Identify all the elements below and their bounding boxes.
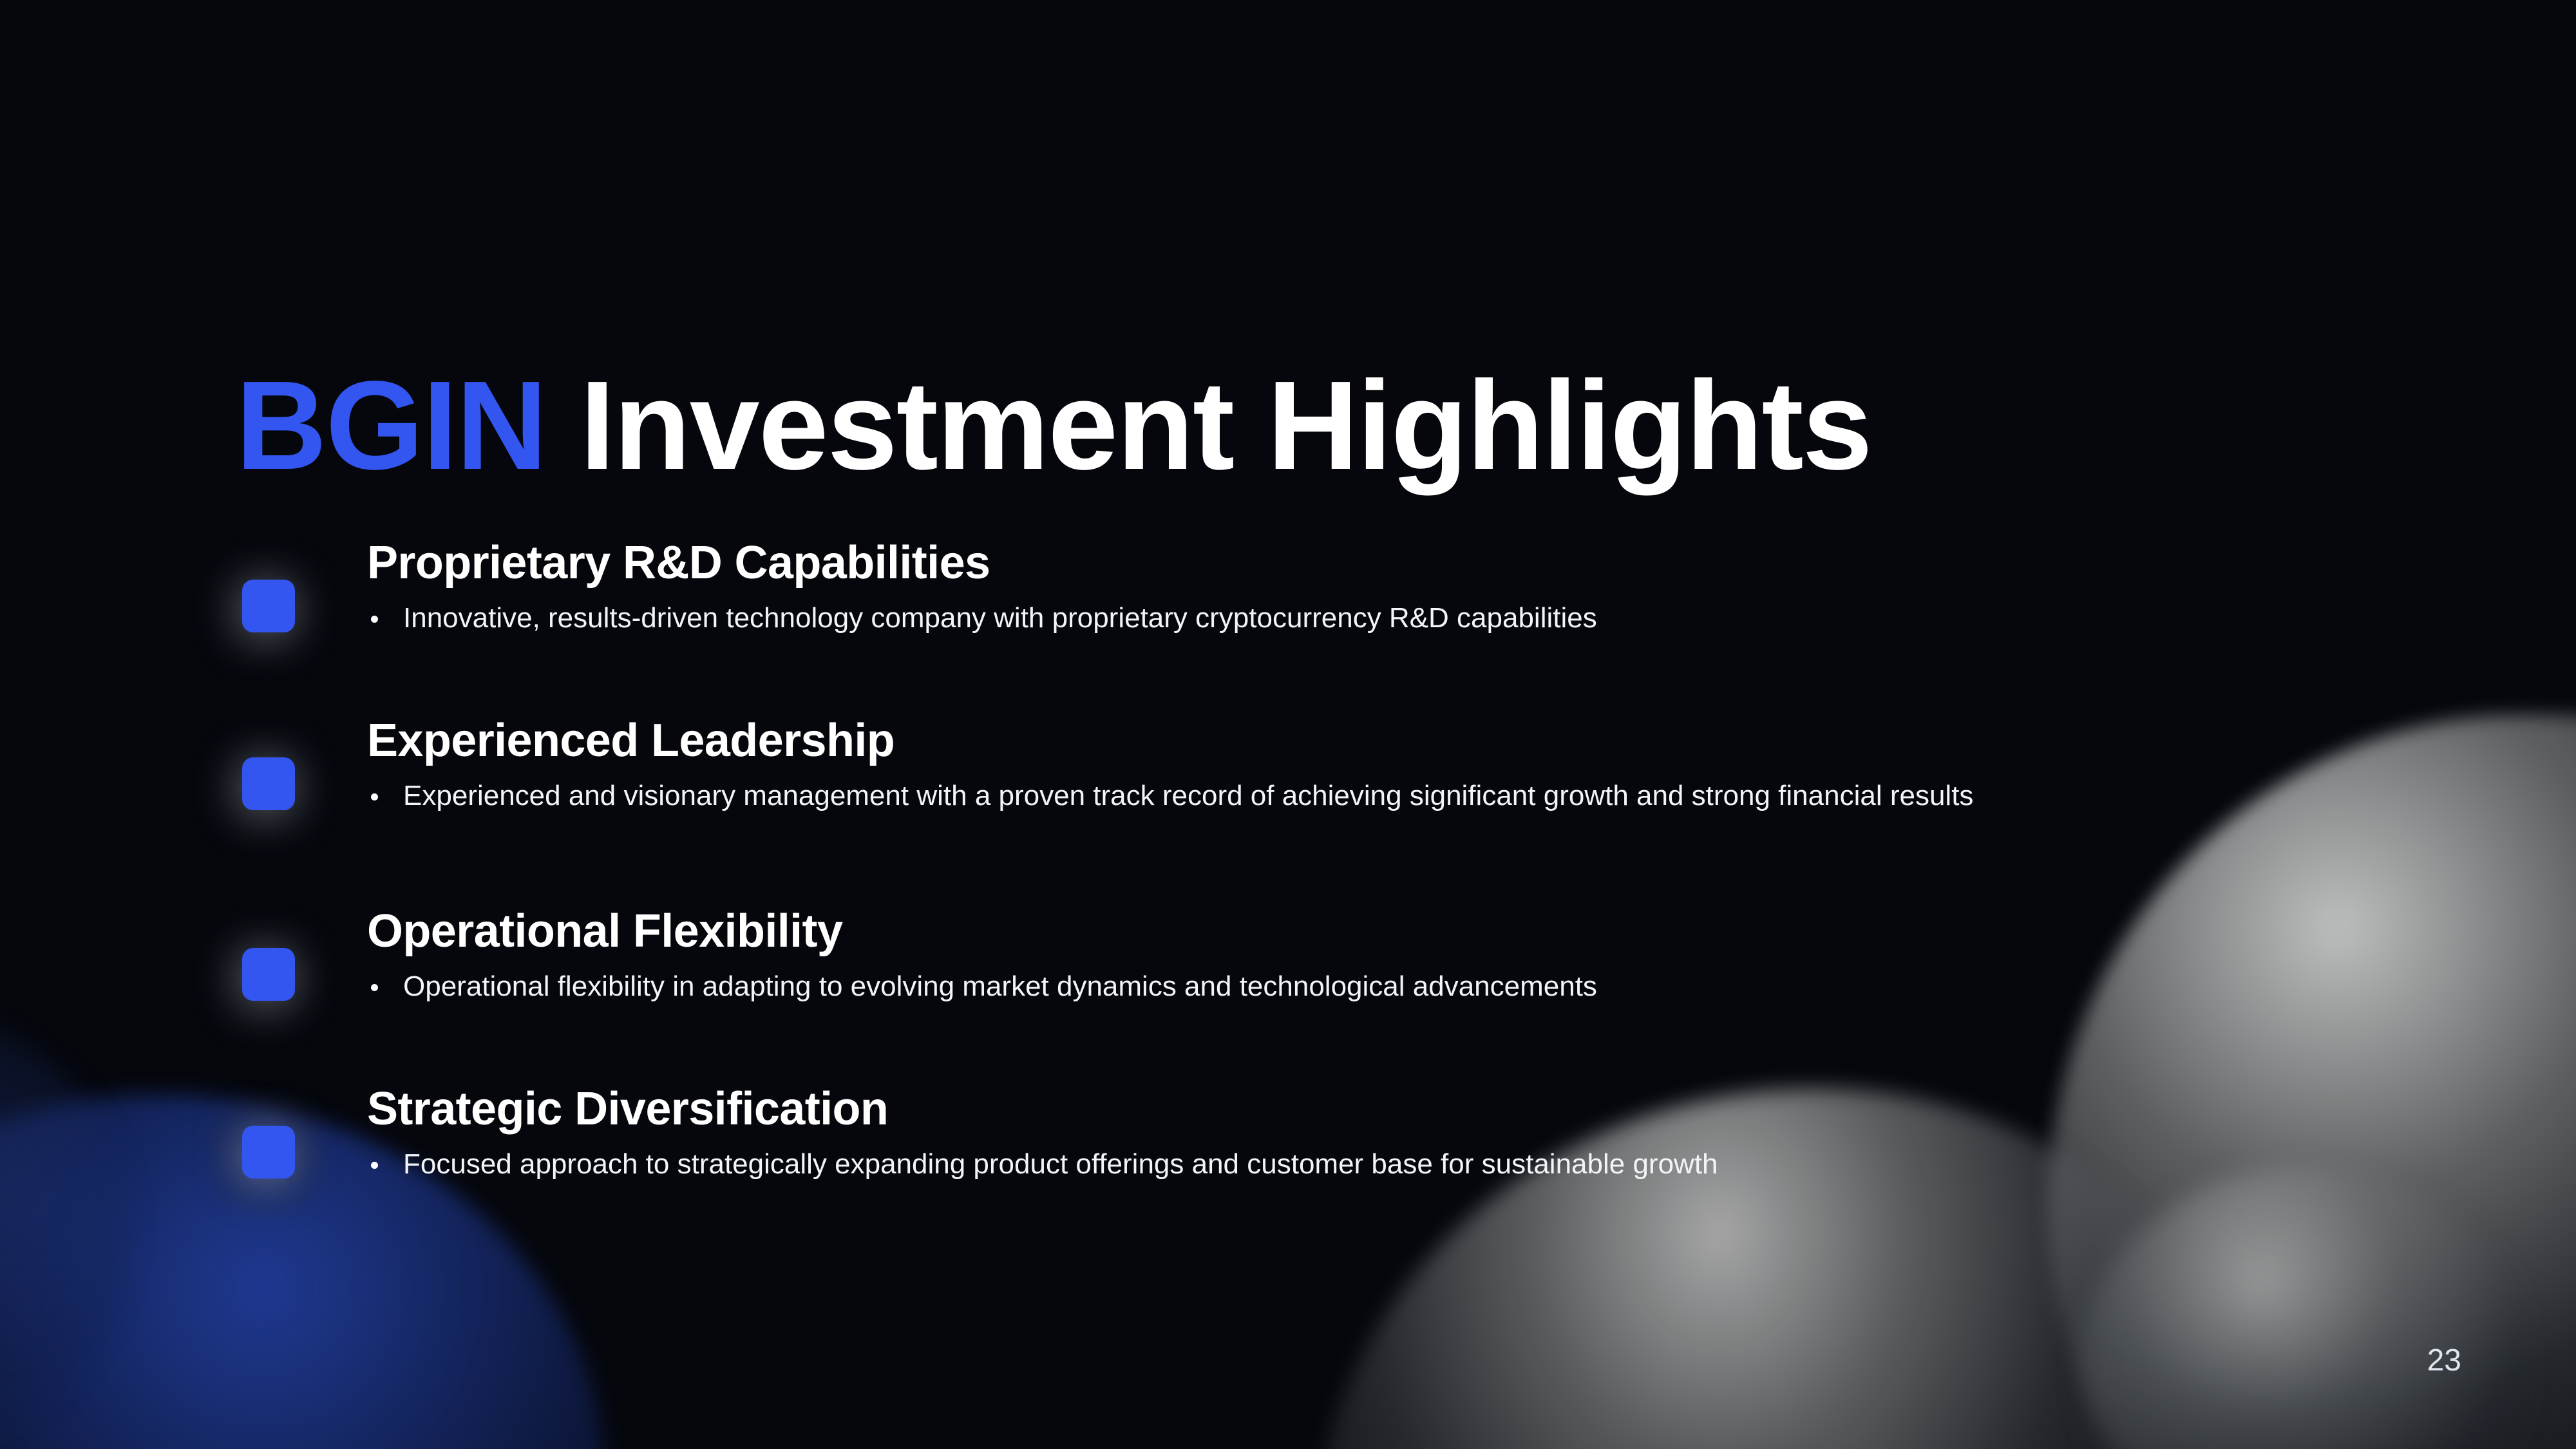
highlight-heading: Proprietary R&D Capabilities	[367, 520, 2394, 589]
highlight-heading: Operational Flexibility	[367, 889, 2394, 957]
highlight-item: Proprietary R&D Capabilities Innovative,…	[205, 520, 2394, 698]
highlight-bullet-list: Focused approach to strategically expand…	[367, 1135, 2394, 1184]
highlights-list: Proprietary R&D Capabilities Innovative,…	[205, 520, 2394, 1244]
page-number: 23	[2427, 1343, 2461, 1378]
icon-square-shape	[242, 948, 295, 1001]
bullet-dot-icon	[371, 793, 378, 800]
list-item: Focused approach to strategically expand…	[367, 1145, 2103, 1184]
icon-square-shape	[242, 757, 295, 810]
highlight-bullet-list: Experienced and visionary management wit…	[367, 766, 2394, 816]
bullet-text: Experienced and visionary management wit…	[403, 780, 1973, 811]
bullet-text: Focused approach to strategically expand…	[403, 1148, 1718, 1180]
blue-rounded-square-icon	[205, 549, 327, 671]
highlight-text-block: Strategic Diversification Focused approa…	[367, 1066, 2394, 1184]
list-item: Experienced and visionary management wit…	[367, 777, 2103, 816]
blue-rounded-square-icon	[205, 917, 327, 1039]
highlight-text-block: Operational Flexibility Operational flex…	[367, 889, 2394, 1006]
bullet-dot-icon	[371, 984, 378, 991]
highlight-bullet-list: Operational flexibility in adapting to e…	[367, 957, 2394, 1007]
highlight-text-block: Experienced Leadership Experienced and v…	[367, 698, 2394, 815]
icon-square-shape	[242, 580, 295, 632]
highlight-bullet-list: Innovative, results-driven technology co…	[367, 589, 2394, 638]
list-item: Operational flexibility in adapting to e…	[367, 967, 2103, 1007]
blue-rounded-square-icon	[205, 1095, 327, 1217]
bullet-dot-icon	[371, 1162, 378, 1169]
page-title: BGIN Investment Highlights	[236, 363, 1871, 489]
highlight-item: Experienced Leadership Experienced and v…	[205, 698, 2394, 889]
presentation-slide: BGIN Investment Highlights Proprietary R…	[0, 0, 2576, 1449]
brand-name: BGIN	[236, 355, 546, 496]
slide-content: BGIN Investment Highlights Proprietary R…	[0, 0, 2576, 1449]
list-item: Innovative, results-driven technology co…	[367, 599, 2103, 638]
bullet-text: Innovative, results-driven technology co…	[403, 602, 1597, 634]
bullet-dot-icon	[371, 616, 378, 623]
highlight-text-block: Proprietary R&D Capabilities Innovative,…	[367, 520, 2394, 638]
bullet-text: Operational flexibility in adapting to e…	[403, 971, 1597, 1002]
highlight-item: Strategic Diversification Focused approa…	[205, 1066, 2394, 1244]
icon-square-shape	[242, 1126, 295, 1179]
page-title-rest: Investment Highlights	[546, 355, 1871, 496]
highlight-heading: Strategic Diversification	[367, 1066, 2394, 1135]
highlight-heading: Experienced Leadership	[367, 698, 2394, 766]
blue-rounded-square-icon	[205, 726, 327, 849]
highlight-item: Operational Flexibility Operational flex…	[205, 889, 2394, 1066]
